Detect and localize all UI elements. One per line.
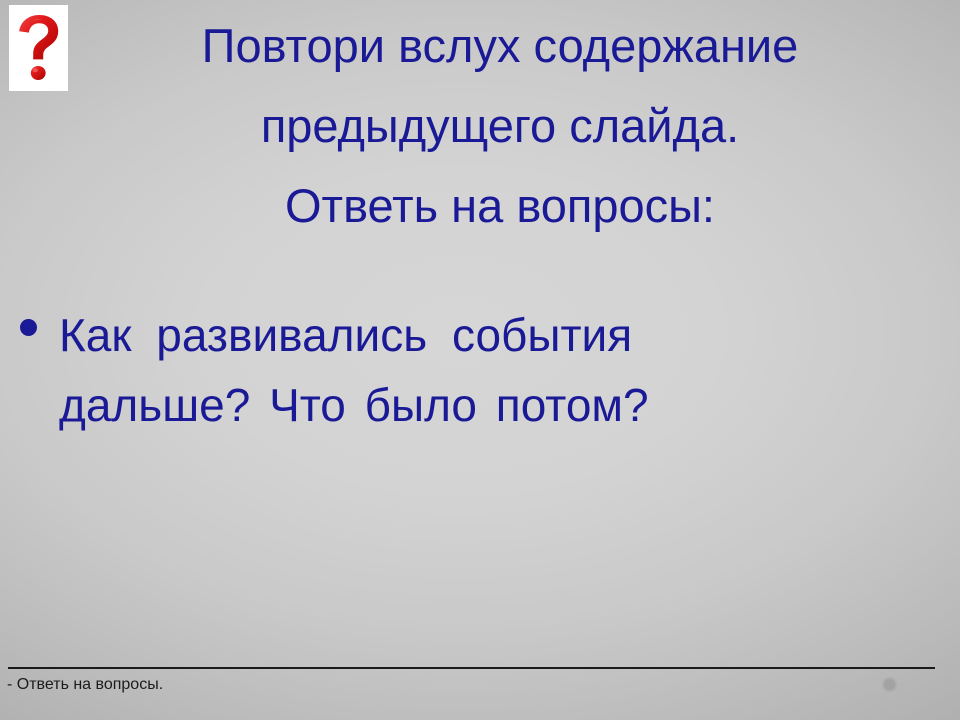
- bullet-line-2: дальше? Что было потом?: [59, 370, 888, 440]
- title-line-2: предыдущего слайда.: [78, 86, 922, 166]
- title-line-3: Ответь на вопросы:: [78, 166, 922, 246]
- presentation-slide: Повтори вслух содержание предыдущего сла…: [0, 0, 960, 720]
- slide-body: Как развивались события дальше? Что было…: [8, 300, 888, 440]
- footer-divider: [8, 667, 935, 669]
- title-line-1: Повтори вслух содержание: [78, 6, 922, 86]
- footer-dot-icon: [884, 679, 895, 690]
- question-mark-image: [9, 5, 68, 91]
- list-item: Как развивались события дальше? Что было…: [8, 300, 888, 440]
- bullet-text: Как развивались события дальше? Что было…: [59, 300, 888, 440]
- slide-title: Повтори вслух содержание предыдущего сла…: [78, 6, 922, 246]
- question-mark-icon: [16, 13, 62, 83]
- footer-note: - Ответь на вопросы.: [7, 674, 163, 696]
- bullet-marker-icon: [20, 319, 37, 336]
- bullet-line-1: Как развивались события: [59, 300, 888, 370]
